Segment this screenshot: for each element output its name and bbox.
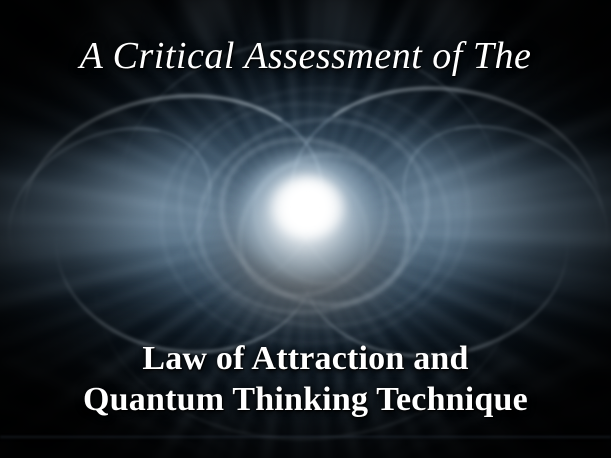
bottom-seam-line: [0, 436, 611, 439]
slide-subtitle: Law of Attraction and Quantum Thinking T…: [0, 338, 611, 420]
slide-subtitle-line-1: Law of Attraction and: [0, 338, 611, 379]
slide-subtitle-line-2: Quantum Thinking Technique: [0, 379, 611, 420]
title-slide: A Critical Assessment of The Law of Attr…: [0, 0, 611, 458]
slide-title: A Critical Assessment of The: [0, 34, 611, 78]
